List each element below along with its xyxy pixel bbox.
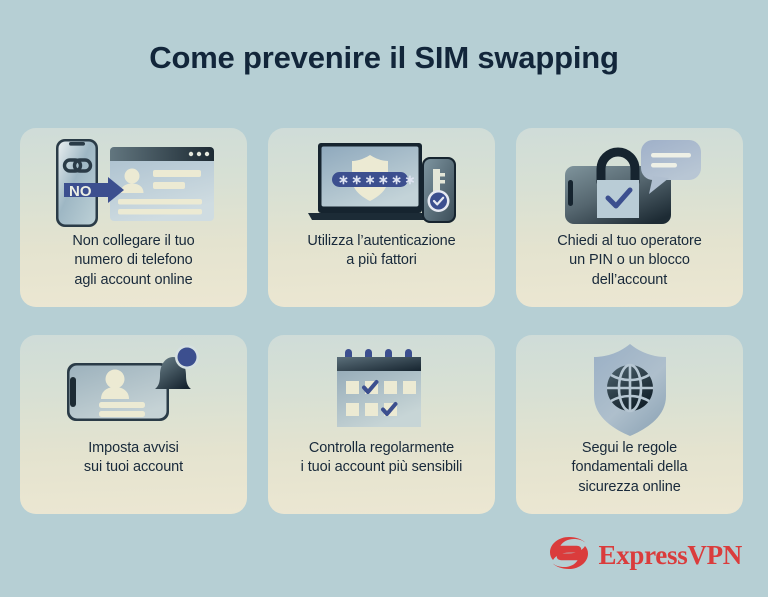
shield-globe-icon <box>516 335 743 439</box>
tip-card-5-label: Controlla regolarmente i tuoi account pi… <box>291 439 473 478</box>
expressvpn-e-mark-icon <box>549 536 589 575</box>
svg-text:NO: NO <box>69 183 92 200</box>
tip-card-6: Segui le regole fondamentali della sicur… <box>516 335 743 514</box>
password-mask: ∗∗∗∗∗∗ <box>338 172 418 187</box>
tip-card-2: ∗∗∗∗∗∗ Utilizza l’autenticazione a più f… <box>268 128 495 307</box>
expressvpn-wordmark: ExpressVPN <box>598 542 742 569</box>
tip-card-2-label: Utilizza l’autenticazione a più fattori <box>297 232 465 271</box>
expressvpn-logo[interactable]: ExpressVPN <box>549 536 742 575</box>
device-padlock-check-speech-bubble-icon <box>516 128 743 232</box>
profile-card-notification-bell-icon <box>20 335 247 439</box>
tip-card-4-label: Imposta avvisi sui tuoi account <box>74 439 193 478</box>
laptop-shield-password-phone-key-icon: ∗∗∗∗∗∗ <box>268 128 495 232</box>
tip-card-3: Chiedi al tuo operatore un PIN o un bloc… <box>516 128 743 307</box>
calendar-checkmarks-icon <box>268 335 495 439</box>
tips-grid: NO Non collegare il tuo numero di telefo… <box>20 128 748 514</box>
page-title: Come prevenire il SIM swapping <box>0 0 768 73</box>
phone-link-no-browser-icon: NO <box>20 128 247 232</box>
tip-card-1-label: Non collegare il tuo numero di telefono … <box>62 232 204 290</box>
tip-card-4: Imposta avvisi sui tuoi account <box>20 335 247 514</box>
tip-card-1: NO Non collegare il tuo numero di telefo… <box>20 128 247 307</box>
tip-card-3-label: Chiedi al tuo operatore un PIN o un bloc… <box>547 232 711 290</box>
tip-card-6-label: Segui le regole fondamentali della sicur… <box>562 439 698 497</box>
tip-card-5: Controlla regolarmente i tuoi account pi… <box>268 335 495 514</box>
